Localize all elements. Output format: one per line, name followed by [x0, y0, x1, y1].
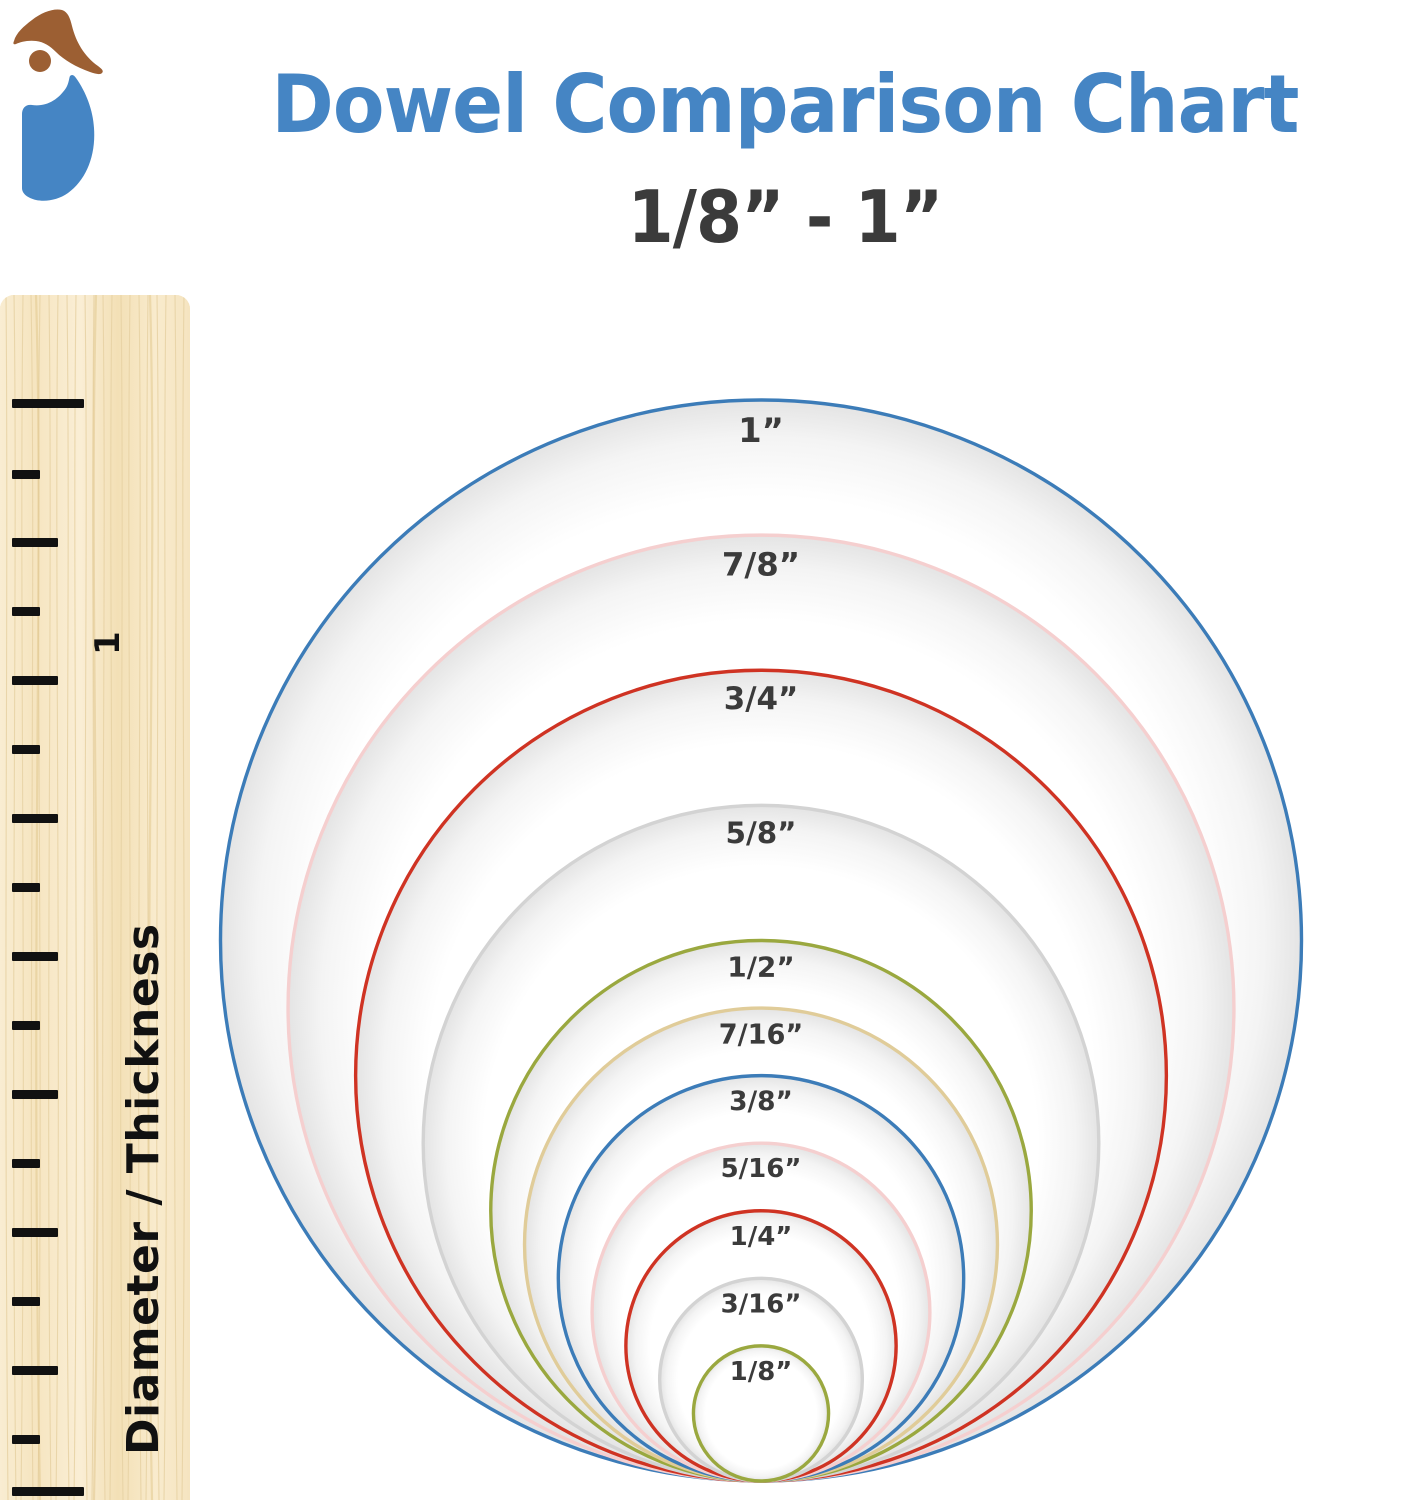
dowel-size-label: 1/8”: [730, 1357, 793, 1387]
dowel-size-label: 1/2”: [727, 950, 794, 983]
dowel-size-label: 5/8”: [725, 816, 796, 850]
dowel-size-label: 3/16”: [721, 1289, 802, 1319]
dowel-size-label: 7/16”: [719, 1019, 804, 1050]
dowel-circles-group: 1”7/8”3/4”5/8”1/2”7/16”3/8”5/16”1/4”3/16…: [0, 0, 1426, 1500]
dowel-size-label: 1/4”: [730, 1222, 793, 1252]
chart-canvas: Dowel Comparison Chart 1/8” - 1”: [0, 0, 1426, 1500]
dowel-size-label: 5/16”: [721, 1154, 802, 1184]
dowel-size-label: 3/4”: [724, 681, 799, 717]
dowel-size-label: 7/8”: [722, 546, 800, 584]
dowel-size-label: 3/8”: [729, 1086, 793, 1117]
dowel-size-label: 1”: [738, 411, 784, 450]
